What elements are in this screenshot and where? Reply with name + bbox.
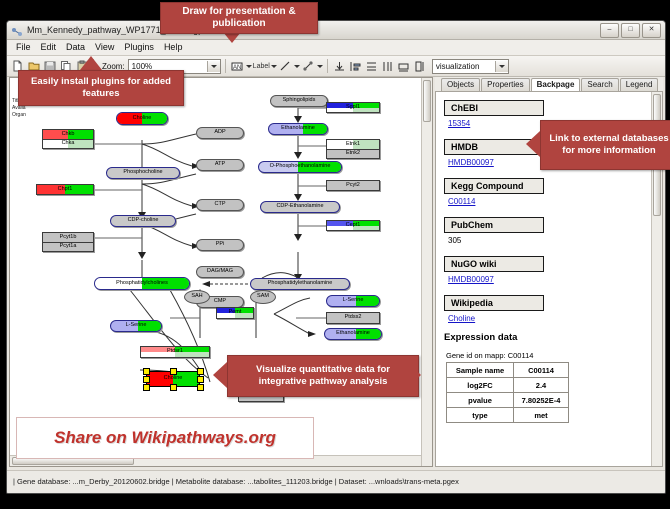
canvas-vscrollbar[interactable] [421, 78, 432, 466]
maximize-button[interactable]: □ [621, 23, 640, 38]
node-label: SAM [257, 294, 269, 300]
menu-plugins[interactable]: Plugins [119, 41, 159, 54]
selection-handle-ne[interactable] [197, 368, 204, 375]
selection-handle-n[interactable] [170, 368, 177, 375]
node-phosphocholine[interactable]: Phosphocholine [106, 167, 180, 179]
chevron-down-icon[interactable] [271, 65, 277, 68]
callout-visualize-arrow-right-icon [407, 362, 421, 388]
align-left-icon[interactable] [348, 58, 363, 74]
node-label: Etnk1 [346, 142, 360, 148]
node-label: L-Serine [126, 323, 147, 329]
toolbar-separator-3 [327, 59, 328, 73]
node-label: Ptdss2 [345, 315, 362, 321]
selection-handle-w[interactable] [143, 376, 150, 383]
chevron-down-icon[interactable] [495, 61, 508, 72]
chevron-down-icon[interactable] [246, 65, 252, 68]
callout-links: Link to external databases for more info… [540, 120, 670, 170]
chevron-down-icon[interactable] [294, 65, 300, 68]
callout-share-text: Share on Wikipathways.org [54, 428, 276, 448]
node-label: Phosphatidylethanolamine [268, 281, 333, 287]
tab-search[interactable]: Search [581, 78, 618, 91]
node-label: Chka [62, 141, 75, 147]
close-button[interactable]: ✕ [642, 23, 661, 38]
menu-help[interactable]: Help [159, 41, 188, 54]
selection-handle-s[interactable] [170, 384, 177, 391]
node-label: DAG/MAG [207, 269, 233, 275]
distribute-horizontal-icon[interactable] [380, 58, 395, 74]
tab-properties[interactable]: Properties [481, 78, 529, 91]
label-tool[interactable]: Label [253, 63, 277, 70]
node-label: Sphingolipids [283, 98, 316, 104]
node-label: ADP [214, 130, 225, 136]
row-key: pvalue [447, 393, 514, 408]
node-label: L-Serine [343, 298, 364, 304]
chebi-header: ChEBI [444, 100, 544, 116]
expression-table: Sample name C00114 log2FC 2.4 pvalue 7.8… [446, 362, 569, 423]
node-ptdss2[interactable]: Ptdss2 [326, 312, 380, 324]
wikipedia-link[interactable]: Choline [448, 314, 662, 323]
callout-draw: Draw for presentation & publication [160, 2, 318, 34]
node-pcyt2[interactable]: Pcyt2 [326, 180, 380, 191]
status-bar: | Gene database: ...m_Derby_20120602.bri… [7, 470, 665, 493]
row-key: log2FC [447, 378, 514, 393]
gene-id-note: Gene id on mapp: C00114 [446, 351, 662, 360]
set-common-width-icon[interactable] [396, 58, 411, 74]
callout-links-arrow-icon [526, 131, 540, 157]
minimize-button[interactable]: – [600, 23, 619, 38]
line-icon[interactable] [278, 58, 293, 74]
table-row: pvalue 7.80252E-4 [447, 393, 569, 408]
row-value: 7.80252E-4 [514, 393, 569, 408]
node-ppi[interactable]: PPi [196, 239, 244, 251]
node-label: Cept1 [346, 223, 361, 229]
distribute-vertical-icon[interactable] [364, 58, 379, 74]
node-phosphatidylcholines[interactable]: Phosphatidylcholines [94, 277, 190, 290]
node-label: Chkb [62, 132, 75, 138]
tab-legend[interactable]: Legend [620, 78, 659, 91]
menu-edit[interactable]: Edit [36, 41, 62, 54]
node-sam[interactable]: SAM [250, 290, 276, 304]
screenshot-root: Mm_Kennedy_pathway_WP1771_45176.gpml – □… [0, 0, 670, 509]
node-label: SAH [191, 294, 202, 300]
kegg-compound-link[interactable]: C00114 [448, 197, 662, 206]
menu-data[interactable]: Data [61, 41, 90, 54]
table-row: type met [447, 408, 569, 423]
node-label: Choline [164, 376, 183, 382]
vscroll-thumb[interactable] [423, 80, 431, 122]
node-label: Phosphocholine [123, 170, 162, 176]
node-atp[interactable]: ATP [196, 159, 244, 171]
node-label: CDP-Ethanolamine [276, 204, 323, 210]
node-label: CDP-choline [128, 218, 159, 224]
chevron-down-icon[interactable] [207, 61, 220, 72]
set-common-height-icon[interactable] [412, 58, 427, 74]
node-adp[interactable]: ADP [196, 127, 244, 139]
row-key: Sample name [447, 363, 514, 378]
row-value: C00114 [514, 363, 569, 378]
node-ethanolamine-top[interactable]: Ethanolamine [268, 123, 328, 135]
row-value: 2.4 [514, 378, 569, 393]
status-text: | Gene database: ...m_Derby_20120602.bri… [13, 477, 459, 486]
svg-text:AN: AN [233, 65, 241, 71]
tab-objects[interactable]: Objects [441, 78, 480, 91]
label-tool-text: Label [253, 63, 270, 70]
table-row: log2FC 2.4 [447, 378, 569, 393]
title-bar: Mm_Kennedy_pathway_WP1771_45176.gpml – □… [7, 21, 665, 40]
visualization-combo[interactable]: visualization [432, 59, 509, 74]
node-sphingolipids[interactable]: Sphingolipids [270, 95, 328, 107]
anchor-tool[interactable] [301, 58, 323, 74]
node-label: Choline [133, 116, 152, 122]
node-choline-top[interactable]: Choline [116, 112, 168, 125]
table-row: Sample name C00114 [447, 363, 569, 378]
node-label: Chpt1 [58, 187, 73, 193]
visualization-value: visualization [436, 62, 480, 71]
wikipedia-header: Wikipedia [444, 295, 544, 311]
node-label: Pcyt1a [60, 244, 77, 250]
node-phosphatidylethanolamine[interactable]: Phosphatidylethanolamine [250, 278, 350, 290]
node-chka[interactable]: Chka [42, 139, 94, 149]
node-sgpl1[interactable]: Sgpl1 [326, 102, 380, 113]
pathvisio-icon [11, 25, 23, 36]
nugo-wiki-link[interactable]: HMDB00097 [448, 275, 662, 284]
node-sah[interactable]: SAH [184, 290, 210, 304]
row-key: type [447, 408, 514, 423]
expression-data-heading: Expression data [444, 332, 662, 343]
datanode-tool[interactable]: AN [230, 58, 252, 74]
node-pemt[interactable]: Pemt [216, 307, 254, 319]
menu-file[interactable]: File [11, 41, 36, 54]
window-controls: – □ ✕ [600, 23, 661, 38]
node-ptdsr1[interactable]: Ptdsr1 [140, 346, 210, 358]
pubchem-header: PubChem [444, 217, 544, 233]
node-label: Sgpl1 [346, 105, 360, 111]
node-cept1[interactable]: Cept1 [326, 220, 380, 231]
menu-bar: File Edit Data View Plugins Help [7, 40, 665, 56]
pubchem-value: 305 [448, 236, 662, 245]
callout-plugins: Easily install plugins for added feature… [18, 70, 184, 106]
selection-handle-nw[interactable] [143, 368, 150, 375]
node-etnk1[interactable]: Etnk1 [326, 139, 380, 149]
selection-handle-e[interactable] [197, 376, 204, 383]
callout-visualize-arrow-left-icon [213, 362, 227, 388]
node-l-serine-left[interactable]: L-Serine [110, 320, 162, 332]
align-top-icon[interactable] [332, 58, 347, 74]
node-ctp[interactable]: CTP [196, 199, 244, 211]
anchor-icon[interactable] [301, 58, 316, 74]
node-l-serine-right[interactable]: L-Serine [326, 295, 380, 307]
node-label: CMP [214, 299, 226, 305]
node-ethanolamine-bottom[interactable]: Ethanolamine [324, 328, 382, 340]
node-label: Ethanolamine [336, 331, 370, 337]
callout-share: Share on Wikipathways.org [16, 417, 314, 459]
node-pcyt1a[interactable]: Pcyt1a [42, 242, 94, 252]
node-cdp-ethanolamine[interactable]: CDP-Ethanolamine [260, 201, 340, 213]
chevron-down-icon[interactable] [317, 65, 323, 68]
node-etnk2[interactable]: Etnk2 [326, 149, 380, 159]
node-label: Etnk2 [346, 151, 360, 157]
tab-backpage[interactable]: Backpage [531, 78, 581, 92]
node-label: CTP [215, 202, 226, 208]
node-label: Phosphatidylcholines [116, 281, 168, 287]
node-label: Ethanolamine [281, 126, 315, 132]
nugo-wiki-header: NuGO wiki [444, 256, 544, 272]
datanode-icon[interactable]: AN [230, 58, 245, 74]
row-value: met [514, 408, 569, 423]
node-label: O-Phosphoethanolamine [270, 164, 331, 170]
pathway-canvas[interactable]: Title: Availa Organ [9, 77, 433, 467]
menu-view[interactable]: View [90, 41, 119, 54]
node-label: PPi [216, 242, 225, 248]
pathway-drawing: Title: Availa Organ [10, 78, 432, 466]
callout-visualize: Visualize quantitative data for integrat… [227, 355, 419, 397]
node-o-phosphoethanolamine[interactable]: O-Phosphoethanolamine [258, 161, 342, 173]
node-chpt1[interactable]: Chpt1 [36, 184, 94, 195]
line-tool[interactable] [278, 58, 300, 74]
panel-tabs: Objects Properties Backpage Search Legen… [435, 77, 663, 91]
toolbar-separator-2 [225, 59, 226, 73]
node-label: Ptdsr1 [167, 349, 183, 355]
callout-plugins-arrow-icon [80, 56, 102, 70]
node-label: Pemt [229, 310, 242, 316]
selection-handle-sw[interactable] [143, 384, 150, 391]
node-label: Pcyt1b [60, 235, 77, 241]
node-cdp-choline[interactable]: CDP-choline [110, 215, 176, 227]
node-label: Pcyt2 [346, 183, 360, 189]
node-chkb[interactable]: Chkb [42, 129, 94, 139]
kegg-compound-header: Kegg Compound [444, 178, 544, 194]
node-pcyt1b[interactable]: Pcyt1b [42, 232, 94, 242]
node-label: ATP [215, 162, 225, 168]
node-dag-mag[interactable]: DAG/MAG [196, 266, 244, 278]
selection-handle-se[interactable] [197, 384, 204, 391]
